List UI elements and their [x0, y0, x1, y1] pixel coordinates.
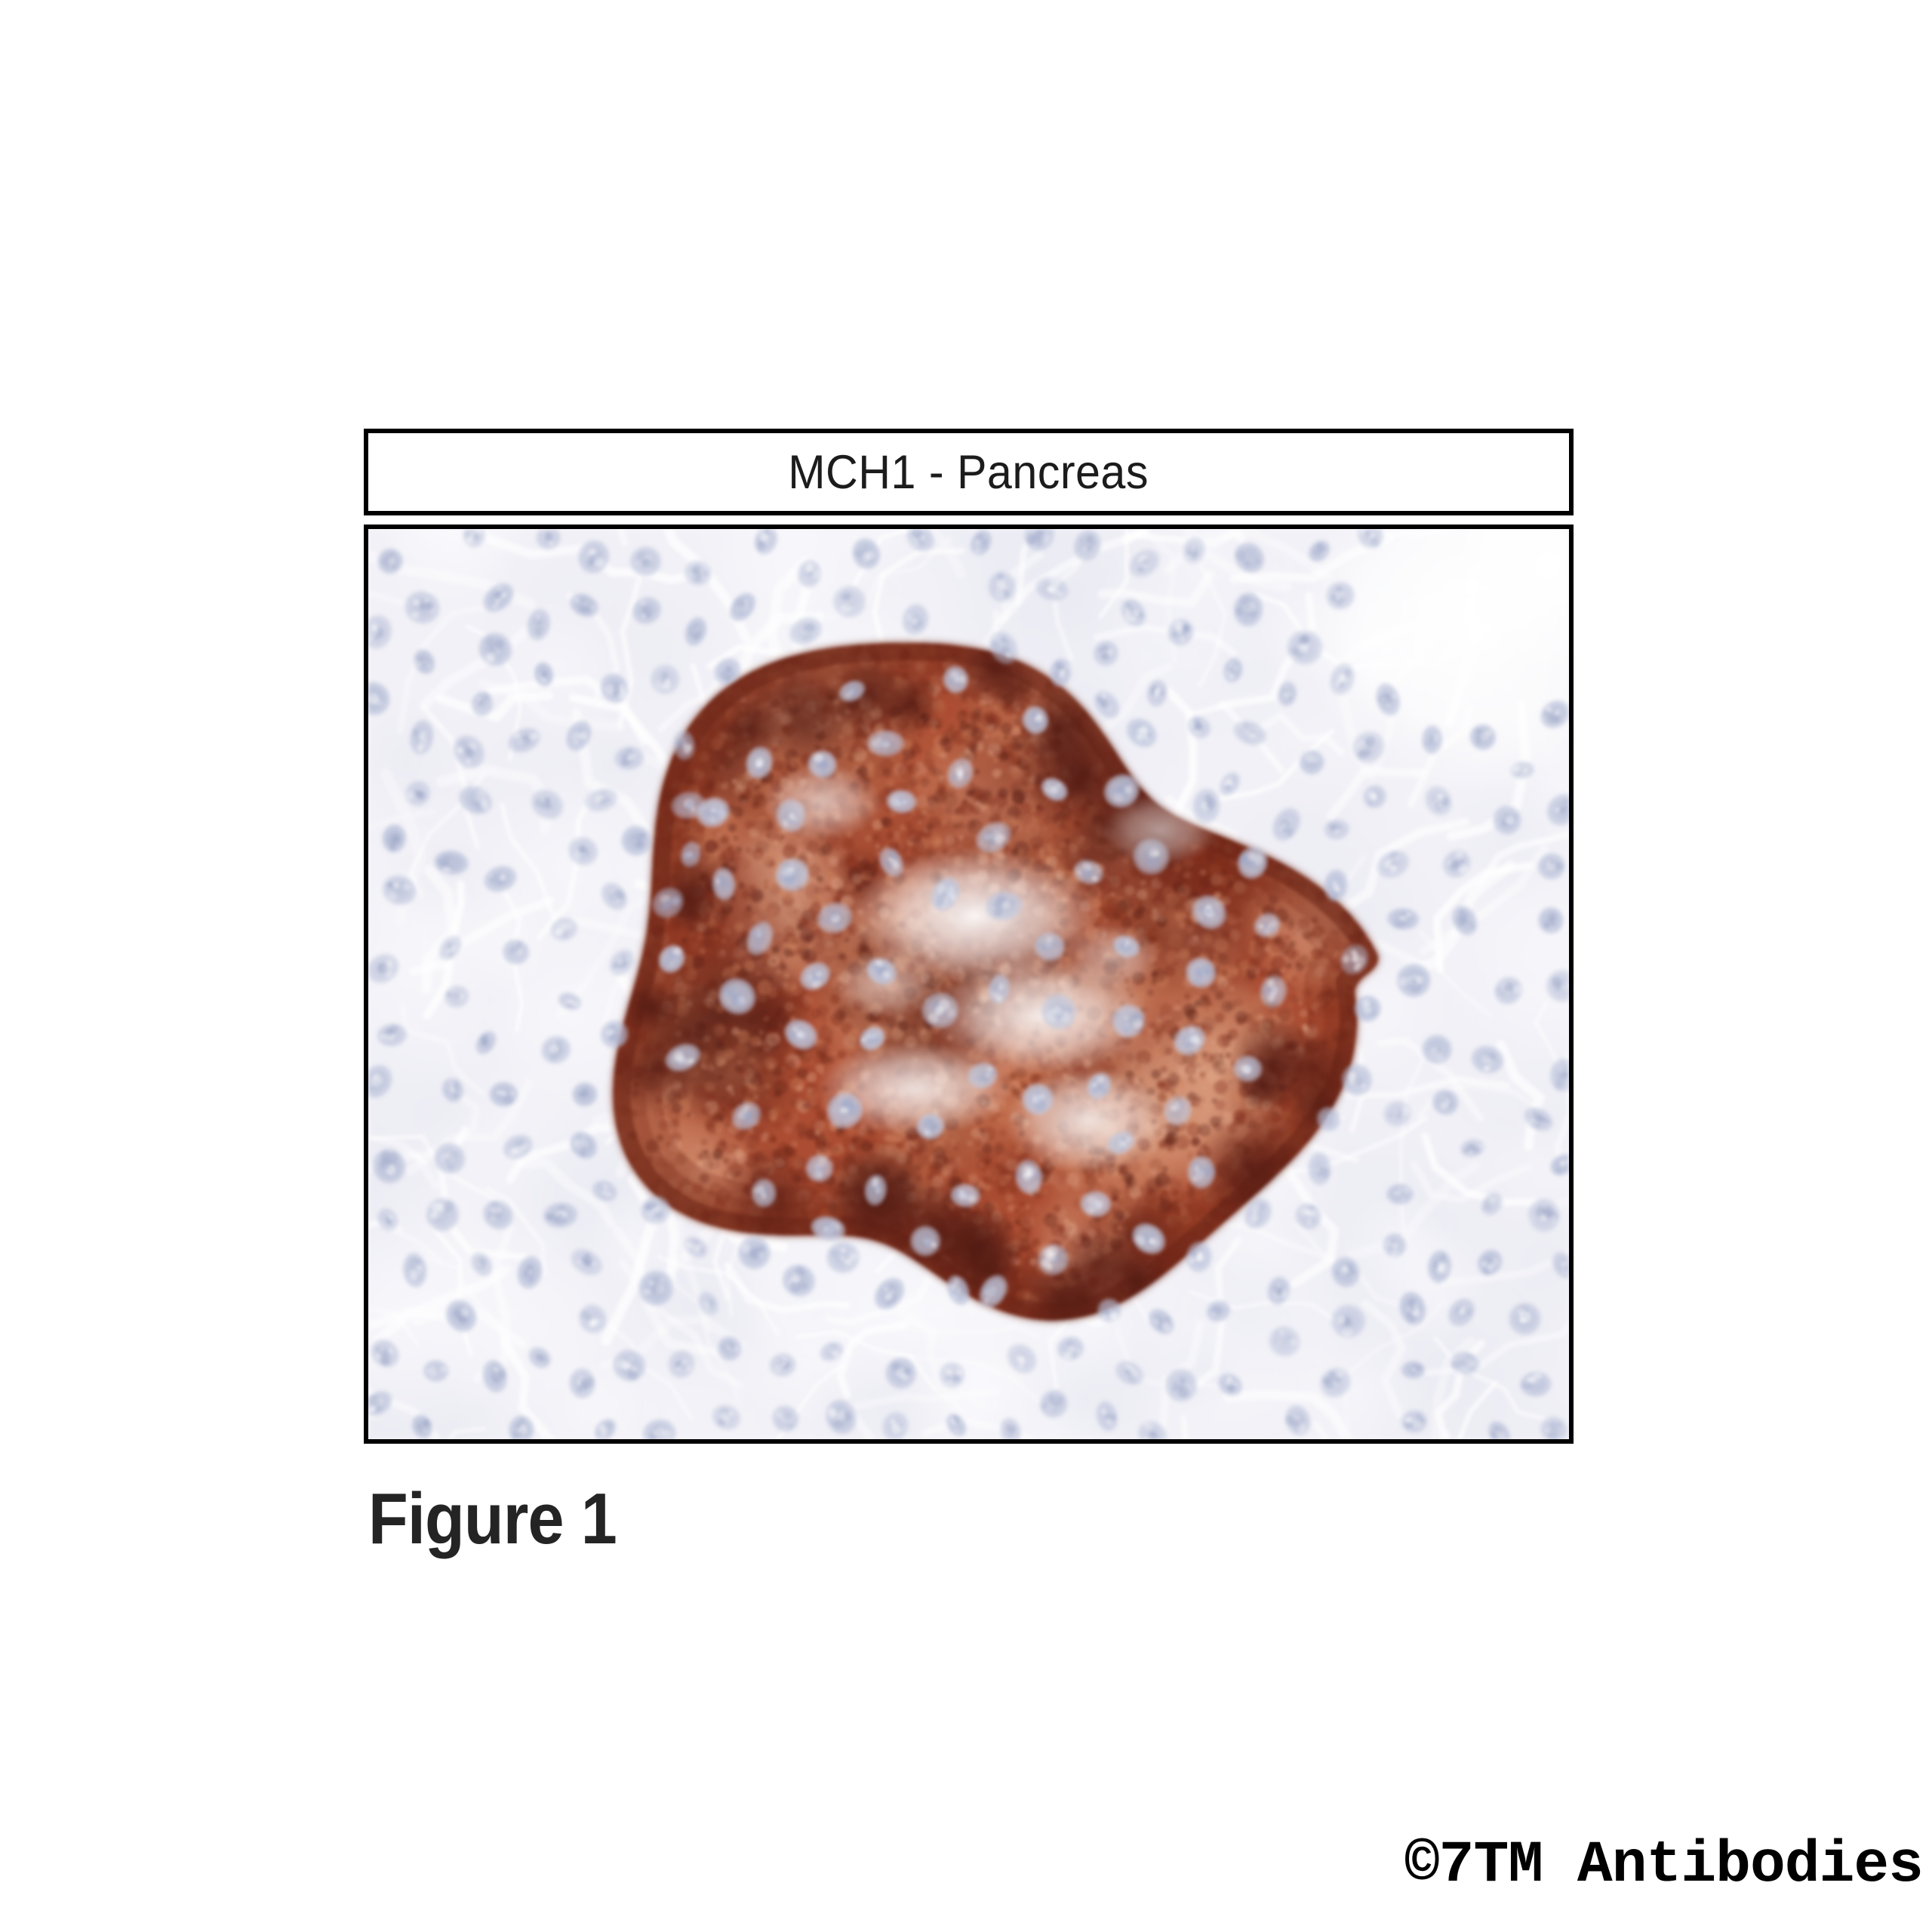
figure-title-text: MCH1 - Pancreas — [789, 445, 1149, 500]
copyright-notice: ©7TM Antibodies — [1404, 1832, 1923, 1899]
micrograph-frame — [364, 525, 1574, 1444]
figure-title-bar: MCH1 - Pancreas — [364, 429, 1574, 515]
micrograph-image — [368, 529, 1569, 1439]
figure-caption: Figure 1 — [368, 1478, 617, 1561]
figure-panel: MCH1 - Pancreas — [364, 429, 1574, 1444]
